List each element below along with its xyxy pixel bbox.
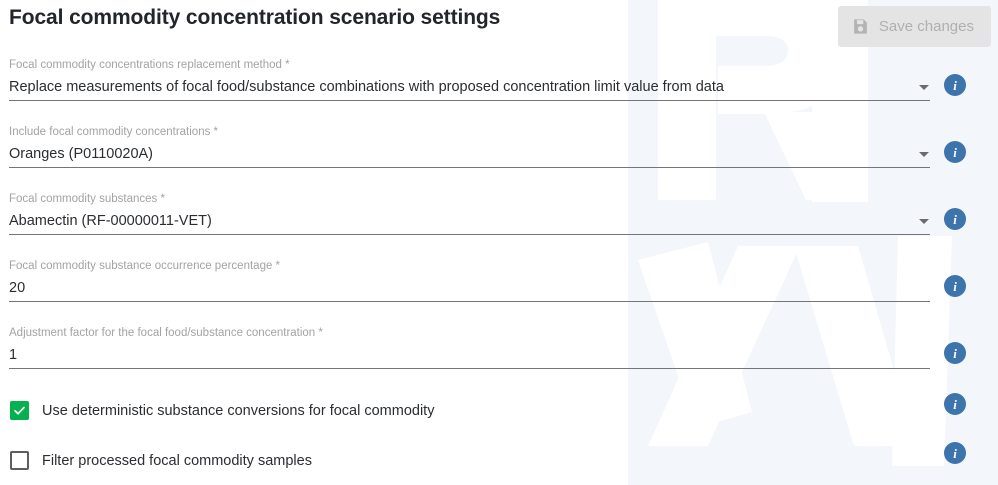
info-icon-adjustment-factor[interactable]: i: [944, 342, 966, 364]
field-include-concentrations: Include focal commodity concentrations *…: [9, 125, 930, 168]
save-changes-label: Save changes: [879, 18, 974, 35]
field-value-focal-substances[interactable]: Abamectin (RF-00000011-VET): [9, 210, 930, 232]
field-value-occurrence-percentage[interactable]: 20: [9, 277, 930, 299]
field-label-occurrence-percentage: Focal commodity substance occurrence per…: [9, 259, 930, 273]
checkbox-label-filter-processed-samples[interactable]: Filter processed focal commodity samples: [42, 453, 312, 469]
info-icon-replacement-method[interactable]: i: [944, 74, 966, 96]
field-label-focal-substances: Focal commodity substances *: [9, 192, 930, 206]
chevron-down-icon[interactable]: [919, 219, 929, 224]
field-row-adjustment-factor: Adjustment factor for the focal food/sub…: [0, 320, 998, 387]
checkbox-deterministic-conversions[interactable]: [10, 401, 29, 420]
page-title: Focal commodity concentration scenario s…: [9, 6, 500, 30]
field-value-replacement-method[interactable]: Replace measurements of focal food/subst…: [9, 76, 930, 98]
info-icon-focal-substances[interactable]: i: [944, 208, 966, 230]
text-input-adjustment-factor[interactable]: 1: [9, 344, 930, 369]
field-label-replacement-method: Focal commodity concentrations replaceme…: [9, 58, 930, 72]
field-occurrence-percentage: Focal commodity substance occurrence per…: [9, 259, 930, 302]
field-row-replacement-method: Focal commodity concentrations replaceme…: [0, 52, 998, 119]
text-input-occurrence-percentage[interactable]: 20: [9, 277, 930, 302]
checkbox-filter-processed-samples[interactable]: [10, 451, 29, 470]
field-adjustment-factor: Adjustment factor for the focal food/sub…: [9, 326, 930, 369]
info-icon-deterministic-conversions[interactable]: i: [944, 393, 966, 415]
field-focal-substances: Focal commodity substances * Abamectin (…: [9, 192, 930, 235]
checkbox-label-deterministic-conversions[interactable]: Use deterministic substance conversions …: [42, 403, 434, 419]
info-icon-occurrence-percentage[interactable]: i: [944, 275, 966, 297]
field-row-occurrence-percentage: Focal commodity substance occurrence per…: [0, 253, 998, 320]
check-icon: [13, 404, 26, 417]
save-changes-button[interactable]: Save changes: [838, 6, 991, 47]
info-icon-filter-processed-samples[interactable]: i: [944, 442, 966, 464]
field-row-focal-substances: Focal commodity substances * Abamectin (…: [0, 186, 998, 253]
dropdown-include-concentrations[interactable]: Oranges (P0110020A): [9, 143, 930, 168]
info-icon-include-concentrations[interactable]: i: [944, 141, 966, 163]
field-replacement-method: Focal commodity concentrations replaceme…: [9, 58, 930, 101]
field-label-adjustment-factor: Adjustment factor for the focal food/sub…: [9, 326, 930, 340]
field-label-include-concentrations: Include focal commodity concentrations *: [9, 125, 930, 139]
save-floppy-icon: [851, 17, 870, 36]
field-value-adjustment-factor[interactable]: 1: [9, 344, 930, 366]
field-row-include-concentrations: Include focal commodity concentrations *…: [0, 119, 998, 186]
checkbox-row-filter-processed-samples: Filter processed focal commodity samples…: [0, 437, 998, 485]
checkbox-row-deterministic-conversions: Use deterministic substance conversions …: [0, 387, 998, 437]
dropdown-replacement-method[interactable]: Replace measurements of focal food/subst…: [9, 76, 930, 101]
settings-form: Focal commodity concentrations replaceme…: [0, 52, 998, 485]
dropdown-focal-substances[interactable]: Abamectin (RF-00000011-VET): [9, 210, 930, 235]
chevron-down-icon[interactable]: [919, 85, 929, 90]
chevron-down-icon[interactable]: [919, 152, 929, 157]
field-value-include-concentrations[interactable]: Oranges (P0110020A): [9, 143, 930, 165]
focal-commodity-settings-page: Focal commodity concentration scenario s…: [0, 0, 998, 485]
page-header: Focal commodity concentration scenario s…: [0, 0, 998, 52]
